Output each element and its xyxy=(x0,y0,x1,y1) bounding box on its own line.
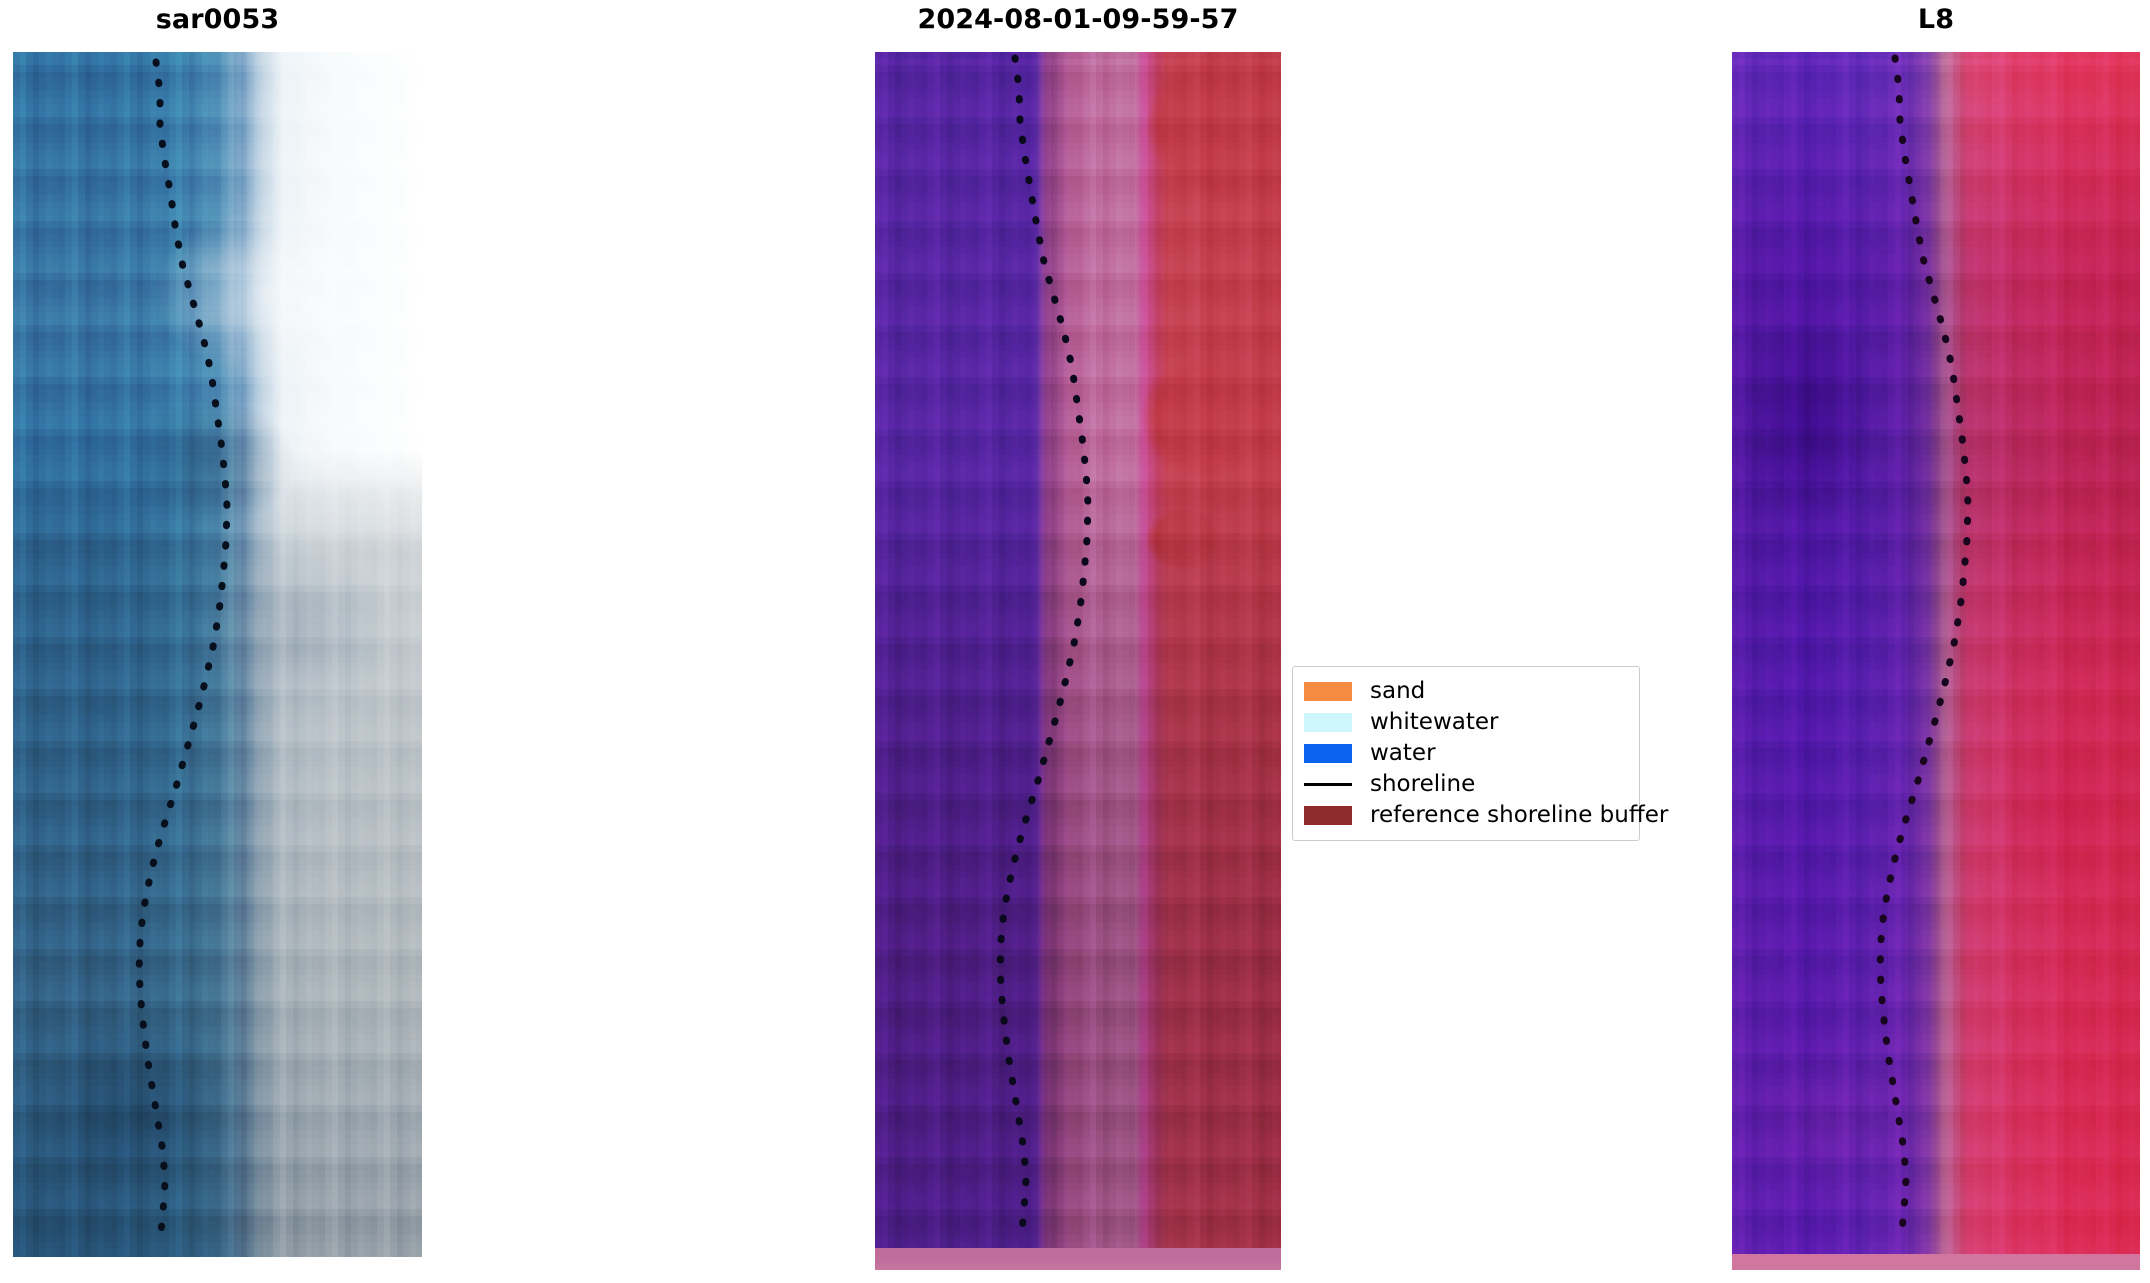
reference-shoreline-buffer-swatch-icon xyxy=(1304,806,1352,825)
l8-bottom-band xyxy=(1732,1254,2140,1270)
panel-l8[interactable] xyxy=(1732,52,2140,1270)
panel-sar[interactable] xyxy=(13,52,422,1257)
legend-item-sand[interactable]: sand xyxy=(1304,676,1626,707)
l8-pixel-mosaic-secondary xyxy=(1732,52,2140,1270)
legend-label-water: water xyxy=(1370,742,1436,765)
legend-item-reference-shoreline-buffer[interactable]: reference shoreline buffer xyxy=(1304,800,1626,831)
legend-item-shoreline[interactable]: shoreline xyxy=(1304,769,1626,800)
legend-item-water[interactable]: water xyxy=(1304,738,1626,769)
water-swatch-icon xyxy=(1304,744,1352,763)
legend-item-whitewater[interactable]: whitewater xyxy=(1304,707,1626,738)
sar-pixel-mosaic-secondary xyxy=(13,52,422,1257)
legend-label-reference-shoreline-buffer: reference shoreline buffer xyxy=(1370,804,1668,827)
panel-title-l8: L8 xyxy=(1732,4,2140,35)
whitewater-swatch-icon xyxy=(1304,713,1352,732)
sand-swatch-icon xyxy=(1304,682,1352,701)
legend: sand whitewater water shoreline referenc… xyxy=(1292,666,1640,841)
legend-label-shoreline: shoreline xyxy=(1370,773,1475,796)
classified-pixel-mosaic-secondary xyxy=(875,52,1281,1270)
classified-bottom-band xyxy=(875,1248,1281,1270)
legend-label-sand: sand xyxy=(1370,680,1425,703)
panel-title-sar: sar0053 xyxy=(13,4,422,35)
panel-classified[interactable] xyxy=(875,52,1281,1270)
legend-label-whitewater: whitewater xyxy=(1370,711,1498,734)
shoreline-line-icon xyxy=(1304,775,1352,794)
figure-canvas: sar0053 2024-08-01-09-59-57 L8 xyxy=(0,0,2150,1283)
panel-title-classified: 2024-08-01-09-59-57 xyxy=(875,4,1281,35)
